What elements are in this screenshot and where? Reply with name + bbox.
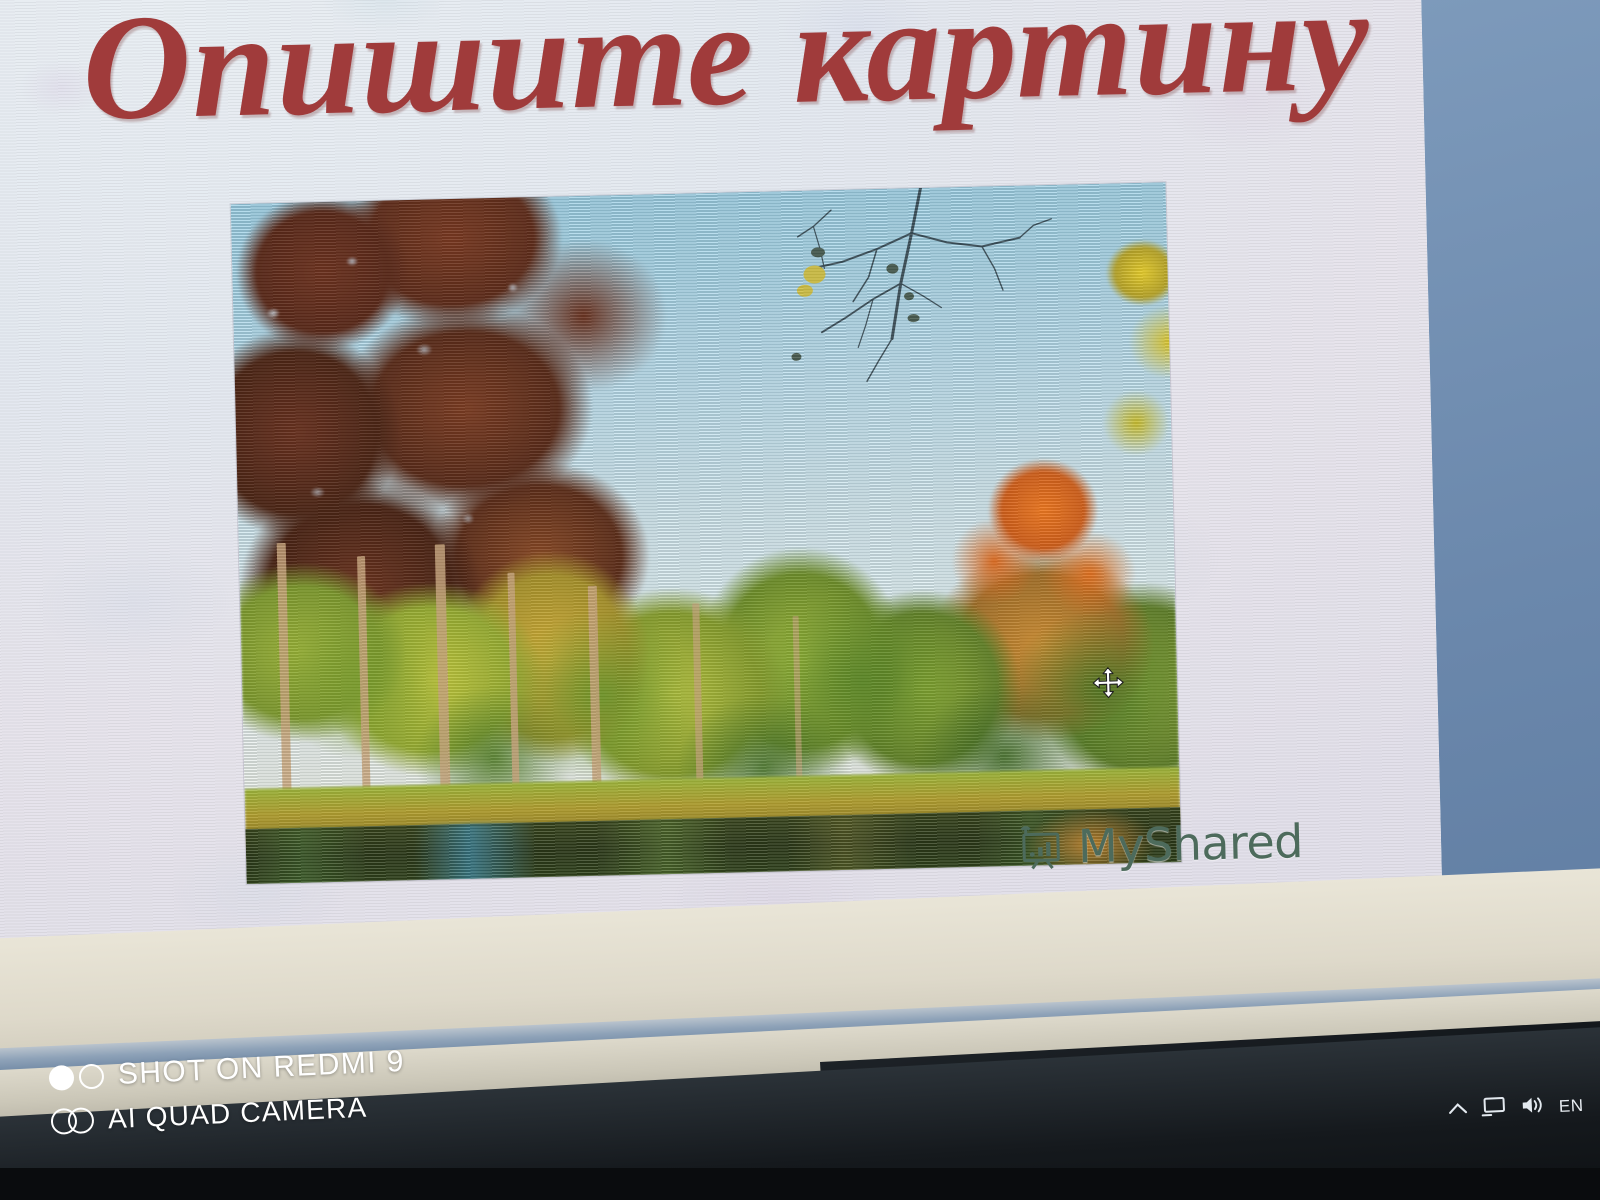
camera-mode-label: AI QUAD CAMERA — [107, 1092, 368, 1136]
tray-chevron-icon[interactable] — [1448, 1101, 1469, 1121]
volume-icon[interactable] — [1519, 1094, 1546, 1122]
monitor-screen: Опишите картину — [0, 0, 1444, 1001]
dark-foreground-lower — [0, 1168, 1600, 1200]
slide-image-autumn-park[interactable] — [231, 182, 1182, 884]
myshared-label: MyShared — [1077, 814, 1303, 873]
language-indicator[interactable]: EN — [1558, 1095, 1584, 1116]
quad-camera-logo-bottom — [50, 1107, 94, 1135]
photo-of-monitor-scene: Опишите картину — [0, 0, 1600, 1200]
display-icon[interactable] — [1480, 1095, 1507, 1123]
camera-watermark: SHOT ON REDMI 9 AI QUAD CAMERA — [48, 1040, 408, 1144]
myshared-watermark: MyShared — [1015, 814, 1303, 875]
move-cursor — [1091, 665, 1126, 700]
slide-title: Опишите картину — [81, 0, 1354, 146]
quad-camera-logo-top — [48, 1063, 104, 1090]
bare-branches — [771, 184, 1096, 421]
presentation-chart-icon — [1016, 824, 1069, 871]
